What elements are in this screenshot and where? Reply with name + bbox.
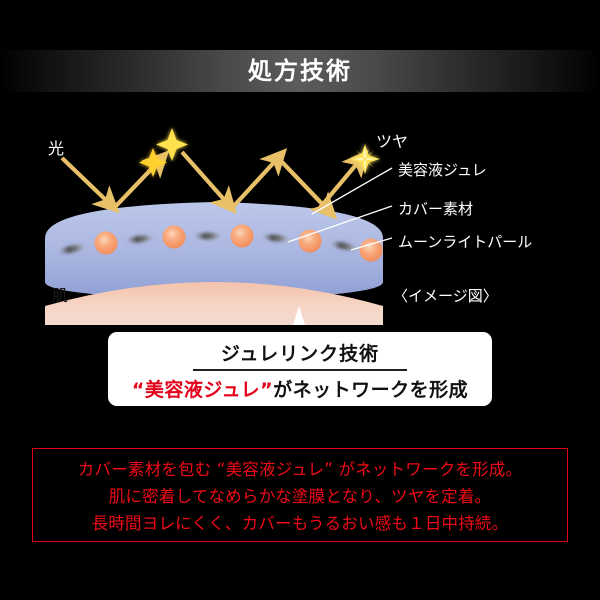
infographic-root: 処方技術	[0, 0, 600, 600]
skin-label: 肌	[52, 282, 68, 306]
light-ray-arrows	[62, 152, 360, 210]
page-title: 処方技術	[0, 50, 600, 92]
formulation-diagram	[0, 110, 600, 325]
serum-jelly-label: 美容液ジュレ	[398, 159, 487, 180]
callout-subtitle-highlight: “美容液ジュレ”	[132, 379, 273, 401]
callout-subtitle: “美容液ジュレ”がネットワークを形成	[108, 375, 492, 402]
notice-line: 肌に密着してなめらかな塗膜となり、ツヤを定着。	[33, 483, 567, 510]
technology-callout-box: ジュレリンク技術 “美容液ジュレ”がネットワークを形成	[108, 332, 492, 406]
image-note-label: 〈イメージ図〉	[393, 285, 498, 306]
gloss-label: ツヤ	[376, 128, 408, 152]
callout-title: ジュレリンク技術	[108, 339, 492, 366]
notice-box: カバー素材を包む “美容液ジュレ” がネットワークを形成。 肌に密着してなめらか…	[32, 448, 568, 542]
notice-line: 長時間ヨレにくく、カバーもうるおい感も１日中持続。	[33, 510, 567, 537]
notice-line: カバー素材を包む “美容液ジュレ” がネットワークを形成。	[33, 456, 567, 483]
callout-subtitle-rest: がネットワークを形成	[273, 379, 468, 401]
moonlight-pearl-label: ムーンライトパール	[398, 231, 532, 252]
light-label: 光	[48, 135, 64, 159]
sparkle-star-icon	[139, 128, 188, 177]
callout-underline	[193, 369, 407, 371]
cover-material-label: カバー素材	[398, 198, 473, 219]
